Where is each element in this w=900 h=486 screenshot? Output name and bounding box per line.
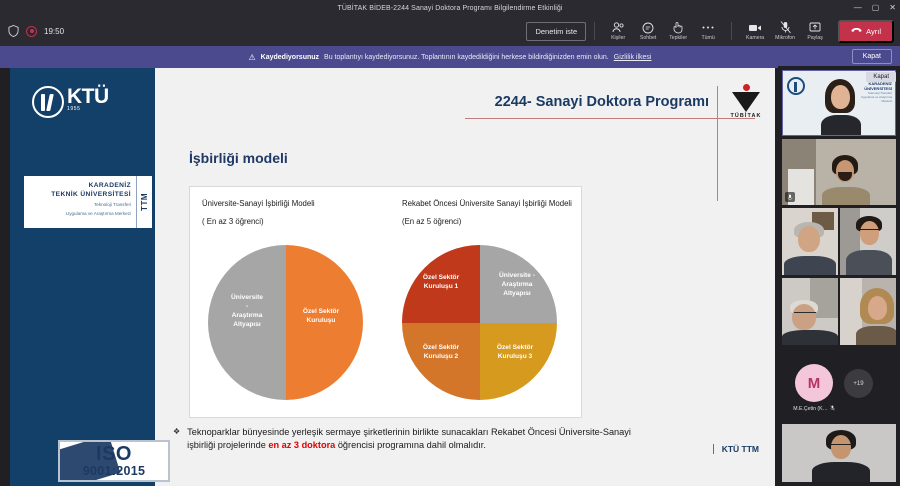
meeting-status-group: 19:50 (0, 25, 64, 37)
camera-label: Kamera (746, 35, 764, 41)
video-scene (840, 208, 896, 275)
window-title: TÜBİTAK BİDEB-2244 Sanayi Doktora Progra… (337, 5, 562, 12)
shield-icon (8, 25, 19, 37)
torso-shape (821, 115, 861, 136)
roster-avatar-row: M M.E.Çetin (K… +19 (778, 358, 900, 420)
chat-button[interactable]: Sohbet (633, 21, 663, 41)
left-pie-chart: Üniversite-AraştırmaAltyapısı Özel Sektö… (208, 245, 363, 400)
ktu-logo: KTÜ 1955 (32, 86, 109, 118)
overlay-line4: Uygulama ve Araştırma Merkezi (852, 95, 892, 103)
more-options-label: Tümü (701, 35, 714, 41)
torso-shape (812, 462, 870, 482)
microphone-label: Mikrofon (775, 35, 795, 41)
warning-icon: ⚠ (249, 53, 256, 62)
share-screen-button[interactable]: Paylaş (800, 21, 830, 41)
overlay-ttm-card: KARADENİZ ÜNİVERSİTESİ Teknoloji Transfe… (852, 81, 892, 103)
participant-avatar-item[interactable]: M M.E.Çetin (K… (792, 364, 836, 413)
participant-roster: KARADENİZ ÜNİVERSİTESİ Teknoloji Transfe… (778, 66, 900, 486)
video-tile-participant-7[interactable] (782, 424, 896, 482)
bullet-highlight: en az 3 doktora (268, 440, 335, 450)
reactions-icon (672, 21, 684, 34)
ttm-card-line4: Uygulama ve Araştırma Merkezi (30, 211, 131, 217)
left-model-subtitle: ( En az 3 öğrenci) (202, 216, 380, 227)
torso-shape (822, 187, 870, 205)
close-icon[interactable]: ✕ (889, 4, 896, 12)
ktu-wordmark: KTÜ (67, 86, 109, 108)
face-shape (868, 296, 887, 320)
slide-footer-tag: KTÜ TTM (713, 444, 759, 454)
header-rule (465, 118, 755, 119)
people-button[interactable]: Kişiler (603, 21, 633, 41)
microphone-muted-icon (780, 21, 791, 34)
left-model-title: Üniversite-Sanayi İşbirliği Modeli (202, 198, 380, 209)
right-model-subtitle: (En az 5 öğrenci) (402, 216, 573, 227)
face-shape (831, 85, 850, 109)
reactions-label: Tepkiler (669, 35, 687, 41)
ttm-vertical-label: TTM (140, 193, 149, 211)
minimize-icon[interactable]: — (854, 4, 862, 12)
microphone-button[interactable]: Mikrofon (770, 21, 800, 41)
glasses-icon (794, 312, 816, 317)
right-model-title: Rekabet Öncesi Üniversite Sanayi İşbirli… (402, 198, 573, 209)
presentation-slide: KTÜ 1955 KARADENİZ TEKNİK ÜNİVERSİTESİ T… (10, 68, 775, 486)
face-shape (792, 304, 816, 330)
video-scene (840, 278, 896, 345)
avatar-name: M.E.Çetin (K… (793, 406, 828, 412)
stop-presenting-button[interactable]: Kapat (866, 72, 896, 82)
reactions-button[interactable]: Tepkiler (663, 21, 693, 41)
camera-button[interactable]: Kamera (740, 21, 770, 41)
recording-indicator-icon (26, 26, 37, 37)
people-icon (612, 21, 625, 34)
right-pie-private2-label: Özel SektörKuruluşu 2 (410, 343, 472, 361)
header-vertical-rule (717, 86, 718, 201)
left-pie-private-label: Özel SektörKuruluşu (290, 307, 352, 325)
diagram-right-column: Rekabet Öncesi Üniversite Sanayi İşbirli… (390, 187, 583, 419)
video-scene (782, 424, 896, 482)
glasses-icon (859, 229, 880, 234)
share-screen-icon (809, 21, 821, 34)
request-control-button[interactable]: Denetim iste (526, 22, 586, 41)
recording-banner: ⚠ Kaydediyorsunuz Bu toplantıyı kaydediy… (0, 46, 900, 68)
ttm-card-line3: Teknoloji Transferi (30, 202, 131, 208)
microphone-muted-icon (830, 405, 835, 413)
chat-icon (642, 21, 654, 34)
microphone-muted-icon (785, 192, 795, 202)
video-scene (782, 208, 838, 275)
glasses-icon (830, 444, 852, 449)
right-pie-private2-segment (402, 323, 480, 401)
tubitak-chevron-icon (732, 92, 760, 112)
torso-shape (782, 330, 838, 345)
avatar-name-row: M.E.Çetin (K… (792, 405, 836, 413)
people-label: Kişiler (611, 35, 625, 41)
torso-shape (856, 326, 896, 345)
video-tile-participant-4[interactable] (840, 208, 896, 275)
ttm-card-line1: KARADENİZ (30, 182, 131, 191)
tubitak-wordmark: TÜBİTAK (723, 113, 769, 119)
overflow-participants-button[interactable]: +19 (844, 369, 873, 398)
video-tile-participant-2[interactable] (782, 139, 896, 205)
meeting-action-bar: 19:50 Denetim iste Kişiler Sohbet (0, 16, 900, 46)
divider (594, 22, 595, 40)
right-pie-private3-label: Özel SektörKuruluşu 3 (484, 343, 546, 361)
right-pie-private3-segment (480, 323, 558, 401)
video-scene (782, 139, 896, 205)
meeting-timer: 19:50 (44, 27, 64, 36)
title-bar: TÜBİTAK BİDEB-2244 Sanayi Doktora Progra… (0, 0, 900, 16)
overflow-count: +19 (853, 381, 863, 387)
slide-heading: İşbirliği modeli (189, 150, 288, 166)
slide-bullet-block: ❖ Teknoparklar bünyesinde yerleşik serma… (173, 426, 767, 452)
slide-sidebar: KTÜ 1955 KARADENİZ TEKNİK ÜNİVERSİTESİ T… (10, 68, 155, 486)
left-pie-university-label: Üniversite-AraştırmaAltyapısı (216, 293, 278, 329)
right-pie-university-label: Üniversite -AraştırmaAltyapısı (486, 271, 548, 298)
camera-icon (748, 21, 762, 34)
divider (731, 22, 732, 40)
ktu-emblem-icon (787, 77, 805, 95)
share-label: Paylaş (807, 35, 823, 41)
privacy-policy-link[interactable]: Gizlilik ilkesi (614, 54, 652, 61)
banner-text: Bu toplantıyı kaydediyorsunuz. Toplantın… (324, 54, 609, 61)
banner-bold-text: Kaydediyorsunuz (261, 54, 319, 61)
collaboration-models-diagram: Üniversite-Sanayi İşbirliği Modeli ( En … (189, 186, 582, 418)
avatar: M (795, 364, 833, 402)
teams-meeting-window: TÜBİTAK BİDEB-2244 Sanayi Doktora Progra… (0, 0, 900, 486)
video-tile-participant-5[interactable] (782, 278, 838, 345)
window-controls: — ▢ ✕ (854, 0, 896, 16)
bullet-marker-icon: ❖ (173, 426, 180, 452)
slide-main-area: 2244- Sanayi Doktora Programı TÜBİTAK İş… (155, 68, 775, 486)
slide-header-title: 2244- Sanayi Doktora Programı (495, 94, 709, 110)
more-options-button[interactable]: Tümü (693, 21, 723, 41)
bullet-part2: öğrencisi programına dahil olmalıdır. (335, 440, 486, 450)
bullet-text: Teknoparklar bünyesinde yerleşik sermaye… (187, 426, 642, 452)
leave-button[interactable]: Ayrıl (838, 20, 894, 43)
diagram-left-column: Üniversite-Sanayi İşbirliği Modeli ( En … (190, 187, 390, 419)
video-scene (782, 278, 838, 345)
leave-label: Ayrıl (866, 27, 881, 36)
shared-content-stage[interactable]: KTÜ 1955 KARADENİZ TEKNİK ÜNİVERSİTESİ T… (10, 68, 775, 486)
action-bar-controls: Denetim iste Kişiler Sohbet Tepkiler (526, 16, 900, 46)
ttm-card-line2: TEKNİK ÜNİVERSİTESİ (30, 191, 131, 200)
banner-close-button[interactable]: Kapat (852, 49, 892, 64)
video-tile-participant-3[interactable] (782, 208, 838, 275)
right-pie-chart: Özel SektörKuruluşu 1 Üniversite -Araştı… (402, 245, 557, 400)
chat-label: Sohbet (640, 35, 656, 41)
face-shape (798, 226, 820, 252)
video-tile-participant-6[interactable] (840, 278, 896, 345)
hangup-icon (851, 27, 862, 36)
torso-shape (846, 250, 892, 275)
more-options-icon (701, 21, 715, 34)
ktu-emblem-icon (32, 86, 64, 118)
avatar-initial: M (808, 375, 821, 392)
tubitak-logo: TÜBİTAK (723, 84, 769, 119)
maximize-icon[interactable]: ▢ (872, 4, 880, 12)
torso-shape (784, 256, 836, 275)
ttm-card: KARADENİZ TEKNİK ÜNİVERSİTESİ Teknoloji … (24, 176, 152, 228)
right-pie-private1-label: Özel SektörKuruluşu 1 (410, 273, 472, 291)
iso-certification-badge: ISO 9001:2015 (58, 440, 170, 482)
tubitak-dot-icon (743, 84, 750, 91)
